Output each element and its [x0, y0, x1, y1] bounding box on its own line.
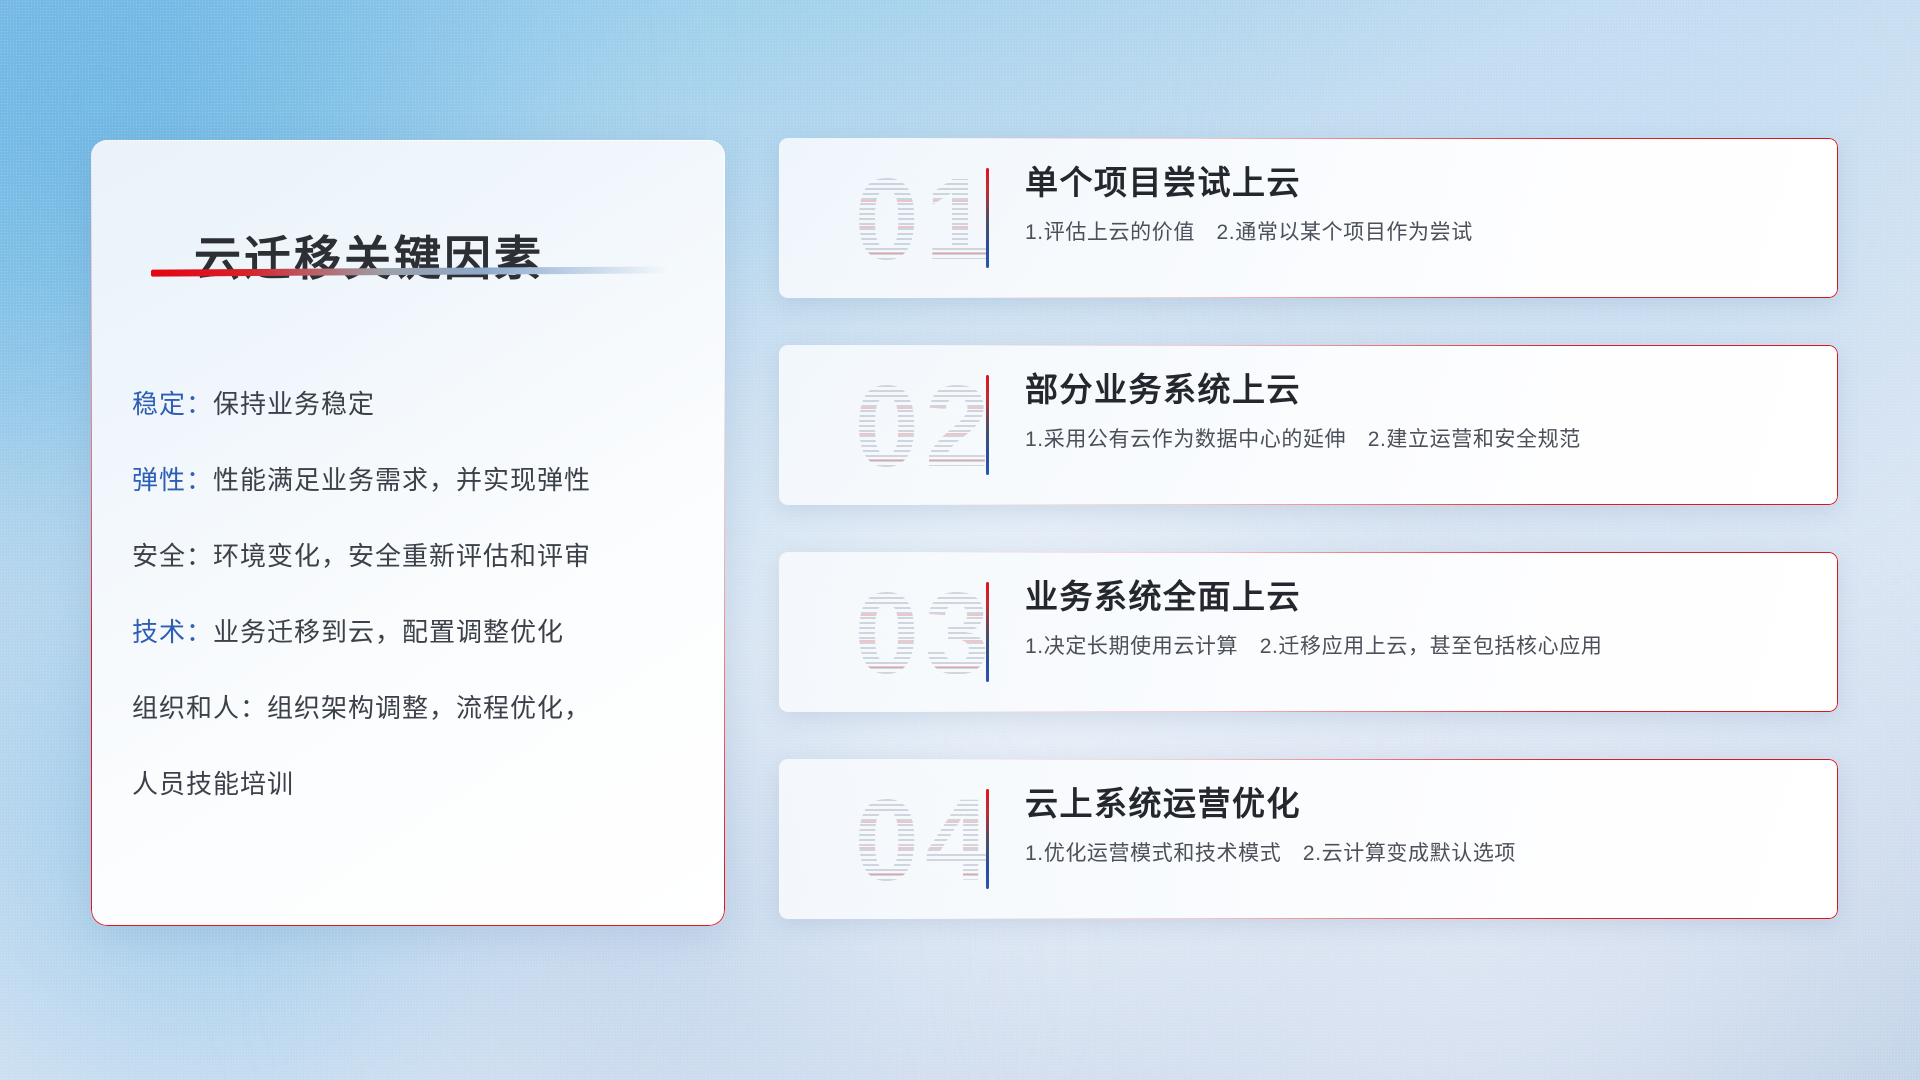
- card-divider-bar: [986, 375, 989, 475]
- card-body: 云上系统运营优化 1.优化运营模式和技术模式 2.云计算变成默认选项: [1025, 779, 1812, 870]
- card-divider-bar: [986, 168, 989, 268]
- factor-label: 稳定：: [132, 389, 213, 419]
- factor-text: 业务迁移到云，配置调整优化: [213, 617, 564, 647]
- factor-label: 组织和人：: [132, 693, 267, 723]
- stage-card[interactable]: 01 01 单个项目尝试上云 1.评估上云的价值 2.通常以某个项目作为尝试: [779, 138, 1838, 298]
- page-title: 云迁移关键因素: [194, 220, 544, 289]
- card-body: 部分业务系统上云 1.采用公有云作为数据中心的延伸 2.建立运营和安全规范: [1025, 365, 1812, 456]
- factor-text: 性能满足业务需求，并实现弹性: [213, 465, 591, 495]
- card-divider-bar: [986, 582, 989, 682]
- card-number-watermark-tint: 03: [800, 562, 1050, 704]
- slide-stage: 云迁移关键因素 稳定：保持业务稳定 弹性：性能满足业务需求，并实现弹性 安全：环…: [0, 0, 1920, 1080]
- factor-label: 安全：: [132, 541, 213, 571]
- card-description: 1.采用公有云作为数据中心的延伸 2.建立运营和安全规范: [1025, 424, 1812, 456]
- card-body: 单个项目尝试上云 1.评估上云的价值 2.通常以某个项目作为尝试: [1025, 158, 1812, 249]
- card-title: 单个项目尝试上云: [1025, 158, 1812, 208]
- card-description: 1.优化运营模式和技术模式 2.云计算变成默认选项: [1025, 838, 1812, 870]
- key-factors-panel: 云迁移关键因素 稳定：保持业务稳定 弹性：性能满足业务需求，并实现弹性 安全：环…: [91, 140, 725, 926]
- factor-text: 人员技能培训: [132, 769, 294, 799]
- card-description: 1.评估上云的价值 2.通常以某个项目作为尝试: [1025, 217, 1812, 249]
- stage-card[interactable]: 04 04 云上系统运营优化 1.优化运营模式和技术模式 2.云计算变成默认选项: [779, 759, 1838, 919]
- factor-row: 稳定：保持业务稳定: [132, 366, 701, 442]
- factor-list: 稳定：保持业务稳定 弹性：性能满足业务需求，并实现弹性 安全：环境变化，安全重新…: [132, 366, 701, 822]
- card-description: 1.决定长期使用云计算 2.迁移应用上云，甚至包括核心应用: [1025, 631, 1812, 663]
- card-title: 云上系统运营优化: [1025, 779, 1812, 829]
- card-number-watermark-tint: 02: [800, 355, 1050, 497]
- factor-text: 环境变化，安全重新评估和评审: [213, 541, 591, 571]
- stage-card-list: 01 01 单个项目尝试上云 1.评估上云的价值 2.通常以某个项目作为尝试 0…: [779, 138, 1838, 966]
- card-title: 业务系统全面上云: [1025, 572, 1812, 622]
- factor-row: 弹性：性能满足业务需求，并实现弹性: [132, 442, 701, 518]
- factor-label: 弹性：: [132, 465, 213, 495]
- factor-row: 人员技能培训: [132, 746, 701, 822]
- card-title: 部分业务系统上云: [1025, 365, 1812, 415]
- card-number-watermark-tint: 01: [800, 148, 1050, 290]
- factor-text: 保持业务稳定: [213, 389, 375, 419]
- factor-text: 组织架构调整，流程优化，: [267, 693, 591, 723]
- stage-card[interactable]: 02 02 部分业务系统上云 1.采用公有云作为数据中心的延伸 2.建立运营和安…: [779, 345, 1838, 505]
- stage-card[interactable]: 03 03 业务系统全面上云 1.决定长期使用云计算 2.迁移应用上云，甚至包括…: [779, 552, 1838, 712]
- factor-label: 技术：: [132, 617, 213, 647]
- card-divider-bar: [986, 789, 989, 889]
- card-body: 业务系统全面上云 1.决定长期使用云计算 2.迁移应用上云，甚至包括核心应用: [1025, 572, 1812, 663]
- factor-row: 组织和人：组织架构调整，流程优化，: [132, 670, 701, 746]
- card-number-watermark-tint: 04: [800, 769, 1050, 911]
- factor-row: 技术：业务迁移到云，配置调整优化: [132, 594, 701, 670]
- factor-row: 安全：环境变化，安全重新评估和评审: [132, 518, 701, 594]
